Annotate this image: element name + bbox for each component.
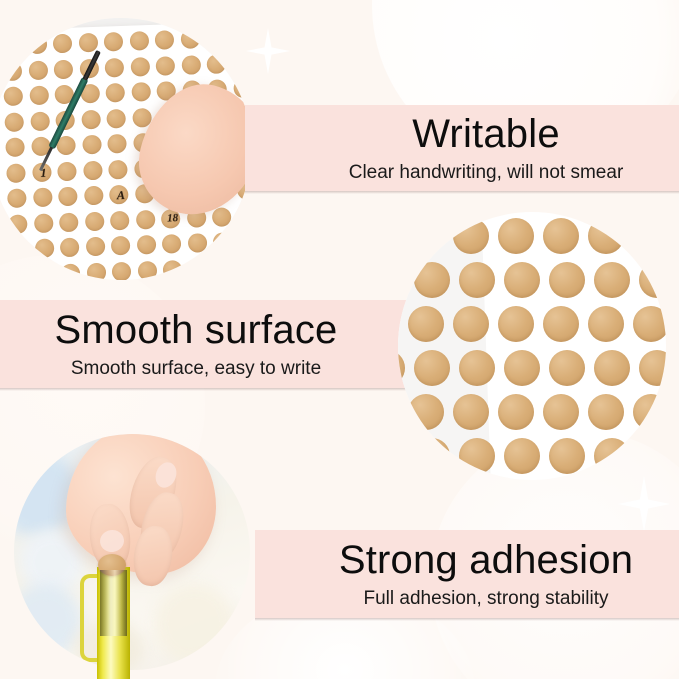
- kraft-dot: [633, 306, 666, 342]
- kraft-dot: [549, 350, 585, 386]
- kraft-dot: [594, 438, 630, 474]
- kraft-dot: [129, 31, 149, 51]
- pen-body-lower: [97, 636, 130, 679]
- kraft-dot: [453, 218, 489, 254]
- kraft-dot: [414, 350, 450, 386]
- kraft-dot: [81, 109, 101, 129]
- kraft-dot: [108, 159, 128, 179]
- kraft-dot: [33, 213, 53, 233]
- kraft-dot: [4, 112, 24, 132]
- kraft-dot: [130, 57, 150, 77]
- kraft-dot: [633, 394, 666, 430]
- sparkle-icon: [246, 28, 290, 74]
- photo-sticker-on-pen: [14, 434, 250, 670]
- sparkle-icon: [618, 476, 670, 532]
- feature-title-smooth-surface: Smooth surface: [55, 310, 338, 350]
- kraft-dot: [504, 438, 540, 474]
- kraft-dot: [213, 232, 233, 252]
- kraft-dot: [543, 394, 579, 430]
- feature-subtitle-smooth-surface: Smooth surface, easy to write: [71, 359, 321, 378]
- kraft-dot: [398, 218, 399, 254]
- kraft-dot: [639, 350, 666, 386]
- kraft-dot: [549, 438, 585, 474]
- kraft-dot: [588, 218, 624, 254]
- kraft-dot: [29, 86, 49, 106]
- kraft-dot: [594, 262, 630, 298]
- kraft-dot: [106, 108, 126, 128]
- handwritten-mark: 18: [163, 212, 182, 224]
- kraft-dot: [453, 306, 489, 342]
- kraft-dot: [136, 235, 156, 255]
- kraft-dot: [187, 233, 207, 253]
- kraft-dot: [504, 350, 540, 386]
- kraft-dot: [30, 111, 50, 131]
- kraft-dot: [5, 137, 25, 157]
- kraft-dot-grid-large: [398, 212, 666, 480]
- kraft-dot: [163, 260, 183, 280]
- kraft-dot: [33, 188, 53, 208]
- kraft-dot: [459, 262, 495, 298]
- kraft-dot: [137, 260, 157, 280]
- kraft-dot: [86, 262, 106, 280]
- kraft-dot: [110, 210, 130, 230]
- kraft-dot: [206, 28, 226, 48]
- kraft-dot: [639, 262, 666, 298]
- kraft-dot: [459, 438, 495, 474]
- kraft-dot: [105, 57, 125, 77]
- kraft-dot: [3, 61, 23, 81]
- kraft-dot: [82, 135, 102, 155]
- kraft-dot: [543, 218, 579, 254]
- kraft-dot: [408, 394, 444, 430]
- kraft-dot: [35, 264, 55, 280]
- kraft-dot: [633, 218, 666, 254]
- kraft-dot: [180, 29, 200, 49]
- kraft-dot: [588, 394, 624, 430]
- kraft-dot: [85, 237, 105, 257]
- kraft-dot: [156, 56, 176, 76]
- kraft-dot: [214, 258, 234, 278]
- feature-subtitle-strong-adhesion: Full adhesion, strong stability: [363, 589, 608, 608]
- kraft-dot: [83, 160, 103, 180]
- kraft-dot: [112, 261, 132, 280]
- kraft-dot: [181, 55, 201, 75]
- kraft-dot: [57, 161, 77, 181]
- kraft-dot: [398, 350, 405, 386]
- kraft-dot: [34, 238, 54, 258]
- feature-subtitle-writable: Clear handwriting, will not smear: [349, 163, 624, 182]
- kraft-dot: [498, 218, 534, 254]
- kraft-dot: [212, 207, 232, 227]
- kraft-dot: [504, 262, 540, 298]
- kraft-dot: [238, 231, 252, 251]
- kraft-dot: [61, 263, 81, 280]
- kraft-dot: [7, 188, 27, 208]
- bokeh-blur: [154, 584, 234, 664]
- handwritten-mark: A: [111, 189, 130, 202]
- feature-title-strong-adhesion: Strong adhesion: [339, 540, 633, 580]
- feature-title-writable: Writable: [412, 114, 560, 154]
- kraft-dot: [105, 83, 125, 103]
- kraft-dot: [231, 27, 251, 47]
- feature-band-smooth-surface: Smooth surface Smooth surface, easy to w…: [0, 300, 420, 388]
- kraft-dot: [414, 438, 450, 474]
- kraft-dot: [9, 239, 29, 259]
- kraft-dot: [232, 53, 252, 73]
- kraft-dot: [414, 262, 450, 298]
- kraft-dot: [135, 209, 155, 229]
- kraft-dot: [594, 350, 630, 386]
- kraft-dot: [398, 306, 399, 342]
- kraft-dot: [408, 306, 444, 342]
- bokeh-blur: [14, 584, 82, 658]
- photo-kraft-dots-closeup: [398, 212, 666, 480]
- kraft-dot: [498, 306, 534, 342]
- kraft-dot: [2, 35, 22, 55]
- kraft-dot: [639, 438, 666, 474]
- kraft-dot: [549, 262, 585, 298]
- kraft-dot: [28, 60, 48, 80]
- handwritten-mark: 1: [34, 166, 53, 179]
- kraft-dot: [84, 186, 104, 206]
- kraft-dot: [131, 82, 151, 102]
- kraft-dot: [27, 35, 47, 55]
- kraft-dot: [53, 34, 73, 54]
- kraft-dot: [398, 394, 399, 430]
- feature-band-writable: Writable Clear handwriting, will not sme…: [245, 105, 679, 191]
- kraft-dot: [8, 214, 28, 234]
- kraft-dot: [498, 394, 534, 430]
- kraft-dot: [54, 59, 74, 79]
- kraft-dot: [239, 257, 252, 277]
- kraft-dot: [588, 306, 624, 342]
- kraft-dot: [408, 218, 444, 254]
- kraft-dot: [59, 212, 79, 232]
- kraft-dot: [84, 211, 104, 231]
- kraft-dot: [398, 438, 405, 474]
- kraft-dot: [3, 86, 23, 106]
- kraft-dot: [78, 33, 98, 53]
- kraft-dot: [459, 350, 495, 386]
- kraft-dot: [206, 54, 226, 74]
- kraft-dot: [111, 236, 131, 256]
- photo-writing-on-stickers: 1.031A18: [0, 18, 252, 280]
- kraft-dot: [107, 134, 127, 154]
- feature-band-strong-adhesion: Strong adhesion Full adhesion, strong st…: [255, 530, 679, 618]
- kraft-dot: [10, 265, 30, 280]
- kraft-dot: [543, 306, 579, 342]
- kraft-dot: [237, 206, 252, 226]
- kraft-dot: [6, 163, 26, 183]
- kraft-dot: [104, 32, 124, 52]
- kraft-dot: [58, 187, 78, 207]
- kraft-dot: [398, 262, 405, 298]
- kraft-dot: [155, 30, 175, 50]
- infographic-canvas: 1.031A18 Writable Clear handwriting, wil…: [0, 0, 679, 679]
- kraft-dot: [453, 394, 489, 430]
- kraft-dot: [60, 238, 80, 258]
- kraft-dot: [188, 259, 208, 279]
- kraft-dot: [162, 234, 182, 254]
